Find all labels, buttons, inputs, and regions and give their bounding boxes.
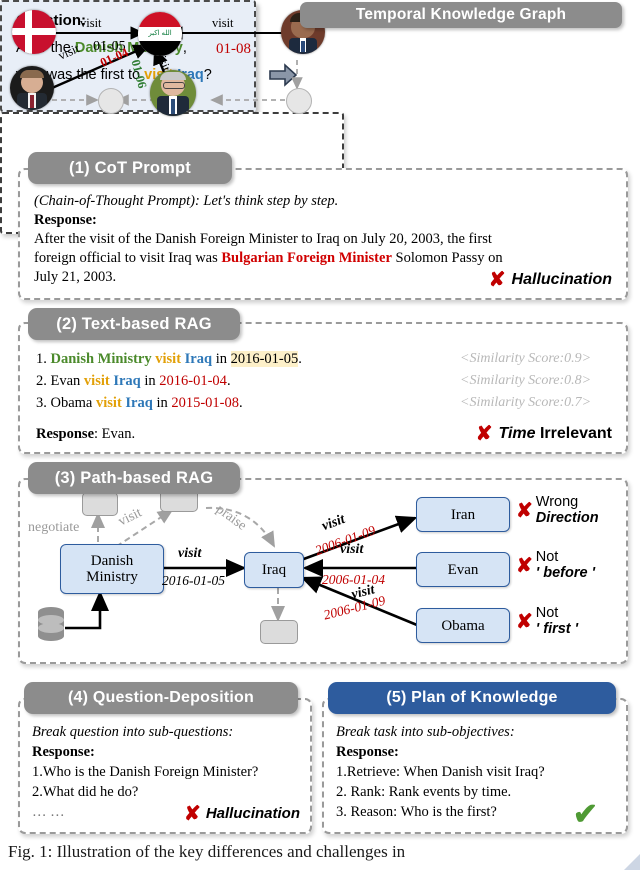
rag-fact-period: . bbox=[239, 395, 243, 411]
path-ghost-box-3 bbox=[260, 620, 298, 644]
rag-fact-date: 2015-01-08 bbox=[171, 395, 239, 411]
cross-icon: ✘ bbox=[516, 553, 533, 578]
node-ghost-2 bbox=[286, 88, 312, 114]
rag-fact-object: Iraq bbox=[125, 395, 152, 411]
qd-response-label: Response: bbox=[32, 742, 310, 762]
path-node-iraq: Iraq bbox=[244, 552, 304, 588]
path-edge-label-visit-danish: visit bbox=[178, 546, 201, 562]
path-node-danish-line2: Ministry bbox=[86, 569, 138, 585]
rag-fact-connector: in bbox=[212, 351, 231, 367]
text-based-rag-tab: (2) Text-based RAG bbox=[28, 308, 240, 340]
rag-verdict-em: Time bbox=[498, 425, 535, 442]
pok-response-label: Response: bbox=[336, 742, 626, 762]
rag-response-row: Response: Evan. bbox=[36, 425, 135, 444]
node-denmark-flag bbox=[12, 10, 56, 54]
cross-icon: ✘ bbox=[476, 421, 493, 446]
cross-icon: ✘ bbox=[184, 801, 201, 826]
tkg-label-visit-top: visit bbox=[80, 16, 102, 31]
cot-verdict-label: Hallucination bbox=[512, 271, 612, 289]
rag-fact-relation: visit bbox=[80, 373, 113, 389]
rag-fact-date: 2016-01-05 bbox=[231, 351, 299, 367]
tkg-title-tab: Temporal Knowledge Graph bbox=[300, 2, 622, 28]
rag-fact-relation: visit bbox=[152, 351, 185, 367]
rag-fact-relation: visit bbox=[92, 395, 125, 411]
cot-resp2-pre: foreign official to visit Iraq was bbox=[34, 250, 221, 266]
node-ghost-1 bbox=[98, 88, 124, 114]
rag-fact-number: 3. bbox=[36, 395, 51, 411]
qd-line-2: 2.What did he do? bbox=[32, 782, 310, 802]
rag-fact-date: 2016-01-04 bbox=[159, 373, 227, 389]
cot-prompt-panel: (Chain-of-Thought Prompt): Let's think s… bbox=[18, 168, 628, 300]
cot-response-line-2: foreign official to visit Iraq was Bulga… bbox=[34, 249, 626, 268]
question-deposition-tab: (4) Question-Deposition bbox=[24, 682, 298, 714]
path-error-2: Not' before ' bbox=[536, 549, 595, 581]
path-edge-label-visit-evan: visit bbox=[340, 542, 363, 558]
path-based-rag-panel: Danish Ministry Iraq Iran Evan Obama neg… bbox=[18, 478, 628, 664]
cot-response-label: Response: bbox=[34, 211, 626, 230]
text-based-rag-panel: 1. Danish Ministry visit Iraq in 2016-01… bbox=[18, 322, 628, 454]
rag-fact-connector: in bbox=[153, 395, 172, 411]
path-node-evan: Evan bbox=[416, 552, 510, 587]
qd-line-1: 1.Who is the Danish Foreign Minister? bbox=[32, 762, 310, 782]
rag-verdict-label: Time Irrelevant bbox=[498, 425, 612, 443]
cot-prompt-tab: (1) CoT Prompt bbox=[28, 152, 232, 184]
rag-fact-object: Iraq bbox=[113, 373, 140, 389]
rag-fact-connector: in bbox=[141, 373, 160, 389]
path-edge-date-evan: 2006-01-04 bbox=[322, 572, 385, 588]
qd-instruction: Break question into sub-questions: bbox=[32, 722, 310, 742]
cot-hallucinated-entity: Bulgarian Foreign Minister bbox=[221, 250, 392, 266]
pok-line-1: 1.Retrieve: When Danish visit Iraq? bbox=[336, 762, 626, 782]
tkg-label-date-0108: 01-08 bbox=[216, 41, 251, 58]
path-ghost-box-1 bbox=[82, 492, 118, 516]
plan-of-knowledge-panel: Break task into sub-objectives: Response… bbox=[322, 698, 628, 834]
rag-fact-object: Iraq bbox=[185, 351, 212, 367]
path-edge-date-danish: 2016-01-05 bbox=[162, 573, 225, 589]
rag-fact-number: 2. bbox=[36, 373, 51, 389]
path-node-danish-line1: Danish bbox=[91, 553, 134, 569]
rag-fact-subject: Danish Ministry bbox=[51, 351, 152, 367]
rag-fact-subject: Obama bbox=[51, 395, 93, 411]
plan-of-knowledge-tab: (5) Plan of Knowledge bbox=[328, 682, 616, 714]
path-based-rag-tab: (3) Path-based RAG bbox=[28, 462, 240, 494]
rag-fact-subject: Evan bbox=[51, 373, 81, 389]
cross-icon: ✘ bbox=[516, 498, 533, 523]
cot-response-line-1: After the visit of the Danish Foreign Mi… bbox=[34, 230, 626, 249]
rag-response-label: Response bbox=[36, 426, 94, 442]
rag-verdict-rest: Irrelevant bbox=[536, 425, 612, 442]
database-icon bbox=[36, 606, 66, 644]
path-grey-label-negotiate: negotiate bbox=[28, 520, 79, 536]
pok-instruction: Break task into sub-objectives: bbox=[336, 722, 626, 742]
cross-icon: ✘ bbox=[516, 609, 533, 634]
rag-response-value: : Evan. bbox=[94, 426, 135, 442]
rag-similarity-score: <Similarity Score:0.7> bbox=[460, 392, 591, 414]
rag-fact-number: 1. bbox=[36, 351, 51, 367]
path-node-iran: Iran bbox=[416, 497, 510, 532]
rag-fact-period: . bbox=[298, 351, 302, 367]
figure-caption: Fig. 1: Illustration of the key differen… bbox=[8, 842, 632, 862]
rag-fact-period: . bbox=[227, 373, 231, 389]
cross-icon: ✘ bbox=[489, 267, 506, 292]
path-error-3: Not' first ' bbox=[536, 605, 578, 637]
path-node-obama: Obama bbox=[416, 608, 510, 643]
node-straw-photo bbox=[150, 70, 196, 116]
rag-similarity-score: <Similarity Score:0.8> bbox=[460, 370, 591, 392]
rag-similarity-score: <Similarity Score:0.9> bbox=[460, 348, 591, 370]
cot-resp2-post: Solomon Passy on bbox=[392, 250, 503, 266]
question-deposition-panel: Break question into sub-questions: Respo… bbox=[18, 698, 312, 834]
qd-verdict-label: Hallucination bbox=[206, 805, 300, 822]
path-node-danish-ministry: Danish Ministry bbox=[60, 544, 164, 594]
check-icon: ✔ bbox=[573, 800, 598, 830]
node-evan-photo bbox=[10, 66, 54, 110]
cot-prompt-text: (Chain-of-Thought Prompt): Let's think s… bbox=[34, 192, 626, 211]
tkg-label-visit-right: visit bbox=[212, 16, 234, 31]
path-error-1: WrongDirection bbox=[536, 494, 599, 526]
